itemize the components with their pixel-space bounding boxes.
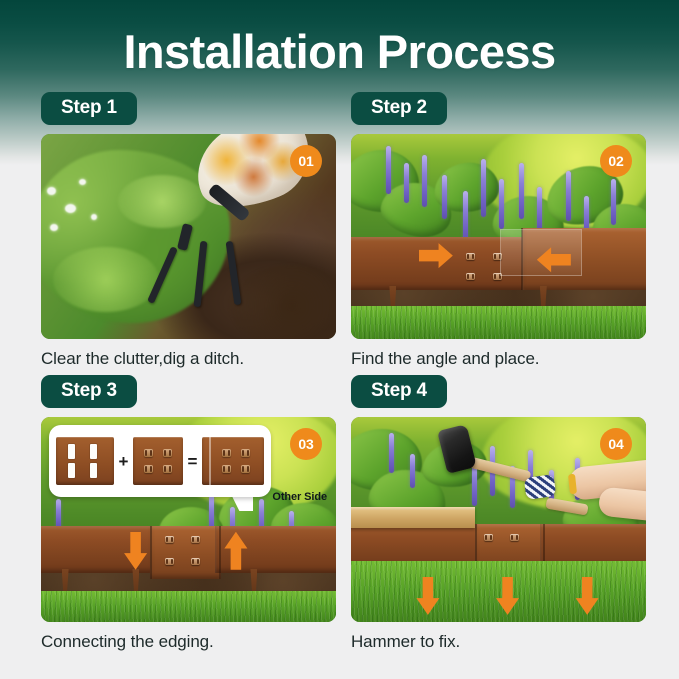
photo2-flower-spike <box>499 179 504 229</box>
photo2-flower-spike <box>404 163 409 203</box>
step-badge-3: Step 3 <box>41 375 137 408</box>
step-photo-1: 01 <box>41 134 336 339</box>
keyhole-slot <box>90 444 97 459</box>
photo1-white-flower <box>50 224 58 231</box>
steps-grid: Step 1 01 Clear the clutter,dig a ditch.… <box>0 92 679 658</box>
keyhole-slot <box>68 444 75 459</box>
photo2-rivet <box>466 253 475 260</box>
photo3-rivet <box>165 558 174 565</box>
step-number-badge-4: 04 <box>600 428 632 460</box>
step-badge-4: Step 4 <box>351 375 447 408</box>
page-title: Installation Process <box>0 24 679 80</box>
photo2-detail-inset <box>501 230 581 275</box>
step-photo-3: + = Other Side 03 <box>41 417 336 622</box>
photo1-foliage-highlight <box>53 247 159 313</box>
step-caption-2: Find the angle and place. <box>351 348 646 370</box>
photo1-white-flower <box>65 204 76 213</box>
step-number-badge-1: 01 <box>290 145 322 177</box>
step-caption-3: Connecting the edging. <box>41 631 336 653</box>
step-photo-4: 04 <box>351 417 646 622</box>
keyhole-slot <box>68 463 75 478</box>
photo2-rivet <box>493 273 502 280</box>
joined-panel-seam <box>209 437 211 485</box>
photo2-flower-spike <box>566 171 571 221</box>
connector-tab <box>241 465 250 473</box>
diagram-panel-joined <box>202 437 264 485</box>
photo4-flower-spike <box>389 433 394 473</box>
step-card-4: Step 4 <box>351 375 646 658</box>
connector-tab <box>144 465 153 473</box>
connector-tab <box>241 449 250 457</box>
diagram-plus-symbol: + <box>119 453 129 470</box>
photo4-wood-board-edge <box>351 507 475 510</box>
step-caption-1: Clear the clutter,dig a ditch. <box>41 348 336 370</box>
step-card-2: Step 2 <box>351 92 646 375</box>
photo3-rivet <box>165 536 174 543</box>
photo2-flower-spike <box>422 155 427 207</box>
photo4-flower-spike <box>410 454 415 488</box>
step-card-3: Step 3 <box>41 375 336 658</box>
photo1-foliage-highlight-2 <box>118 175 207 228</box>
photo2-flower-spike <box>386 146 391 194</box>
connector-tab <box>144 449 153 457</box>
photo2-flower-spike <box>481 159 486 217</box>
photo2-grass-strip <box>351 306 646 339</box>
photo3-rivet <box>191 536 200 543</box>
photo2-flower-spike <box>611 179 616 225</box>
step-badge-1: Step 1 <box>41 92 137 125</box>
keyhole-slot <box>90 463 97 478</box>
connector-tab <box>222 449 231 457</box>
photo3-panel-seam <box>150 526 152 579</box>
photo3-other-side-label: Other Side <box>272 491 327 622</box>
connector-tab <box>222 465 231 473</box>
connector-tab <box>163 465 172 473</box>
step-badge-2: Step 2 <box>351 92 447 125</box>
step-card-1: Step 1 01 Clear the clutter,dig a ditch. <box>41 92 336 375</box>
photo3-flower-spike <box>56 499 61 529</box>
diagram-panel-with-tabs <box>133 437 183 485</box>
photo2-flower-spike <box>537 187 542 231</box>
photo2-flower-spike <box>519 163 524 219</box>
diagram-panel-with-slots <box>56 437 114 485</box>
photo3-connection-diagram: + = <box>49 425 271 497</box>
photo2-rivet <box>493 253 502 260</box>
step-photo-2: 02 <box>351 134 646 339</box>
photo4-rivet <box>510 534 519 541</box>
photo3-panel-seam <box>219 526 221 579</box>
photo3-edging-panel-middle <box>150 526 221 579</box>
photo4-wood-board <box>351 507 475 528</box>
step-number-badge-2: 02 <box>600 145 632 177</box>
connector-tab <box>163 449 172 457</box>
photo4-grass-strip <box>351 561 646 623</box>
photo4-rivet <box>484 534 493 541</box>
diagram-equals-symbol: = <box>188 453 198 470</box>
photo2-flower-spike <box>442 175 447 219</box>
photo2-rivet <box>466 273 475 280</box>
step-number-badge-3: 03 <box>290 428 322 460</box>
step-caption-4: Hammer to fix. <box>351 631 646 653</box>
photo3-rivet <box>191 558 200 565</box>
